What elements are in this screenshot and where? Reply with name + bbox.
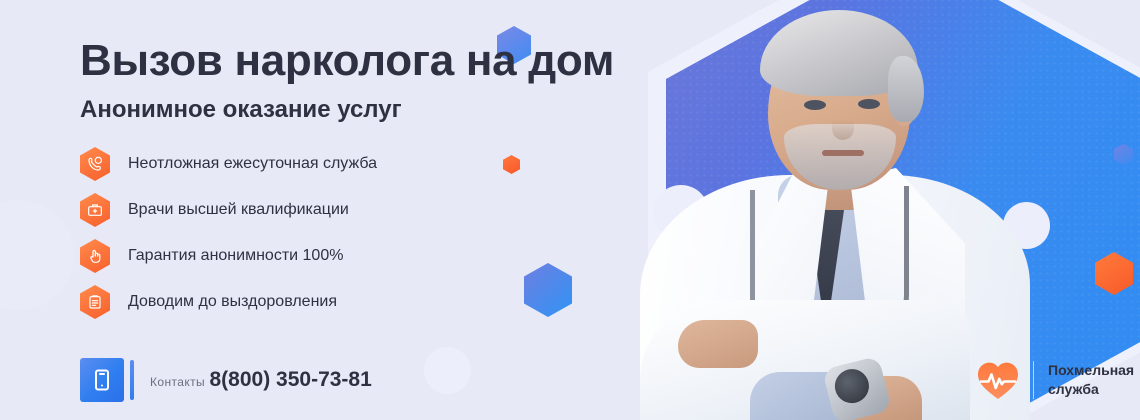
- hand-anonymity-icon: [80, 239, 110, 273]
- medical-bag-icon: [80, 193, 110, 227]
- doctor-mouth: [822, 150, 864, 156]
- brand-logo[interactable]: Похмельная служба: [975, 358, 1134, 402]
- promo-banner: Вызов нарколога на дом Анонимное оказани…: [0, 0, 1140, 420]
- list-item: Врачи высшей квалификации: [80, 188, 377, 232]
- feature-label: Врачи высшей квалификации: [128, 201, 349, 219]
- logo-text: Похмельная служба: [1048, 361, 1134, 399]
- logo-divider: [1033, 361, 1034, 399]
- contacts-text: Контакты 8(800) 350-73-81: [150, 367, 372, 393]
- contacts-divider: [130, 360, 134, 400]
- clipboard-checklist-icon: [80, 285, 110, 319]
- logo-text-line2: служба: [1048, 381, 1099, 397]
- doctor-photo: [600, 0, 1070, 420]
- feature-list: Неотложная ежесуточная служба Врачи высш…: [80, 142, 377, 326]
- contacts-phone-number[interactable]: 8(800) 350-73-81: [210, 368, 372, 391]
- feature-label: Гарантия анонимности 100%: [128, 247, 343, 265]
- list-item: Гарантия анонимности 100%: [80, 234, 377, 278]
- banner-content: Вызов нарколога на дом Анонимное оказани…: [0, 0, 640, 420]
- doctor-hand-left: [678, 320, 758, 368]
- mobile-phone-icon: [80, 358, 124, 402]
- page-title: Вызов нарколога на дом: [80, 36, 614, 86]
- doctor-eye-left: [804, 100, 826, 110]
- feature-label: Доводим до выздоровления: [128, 293, 337, 311]
- contacts-block[interactable]: Контакты 8(800) 350-73-81: [80, 358, 372, 402]
- doctor-nose: [832, 106, 854, 140]
- wristwatch-face: [831, 366, 872, 407]
- list-item: Неотложная ежесуточная служба: [80, 142, 377, 186]
- feature-label: Неотложная ежесуточная служба: [128, 155, 377, 173]
- list-item: Доводим до выздоровления: [80, 280, 377, 324]
- doctor-hair-side: [888, 56, 924, 122]
- page-subtitle: Анонимное оказание услуг: [80, 96, 402, 124]
- logo-text-line1: Похмельная: [1048, 362, 1134, 378]
- contacts-label: Контакты: [150, 375, 205, 389]
- heart-pulse-icon: [975, 358, 1021, 402]
- phone-24h-icon: [80, 147, 110, 181]
- doctor-eye-right: [858, 99, 880, 109]
